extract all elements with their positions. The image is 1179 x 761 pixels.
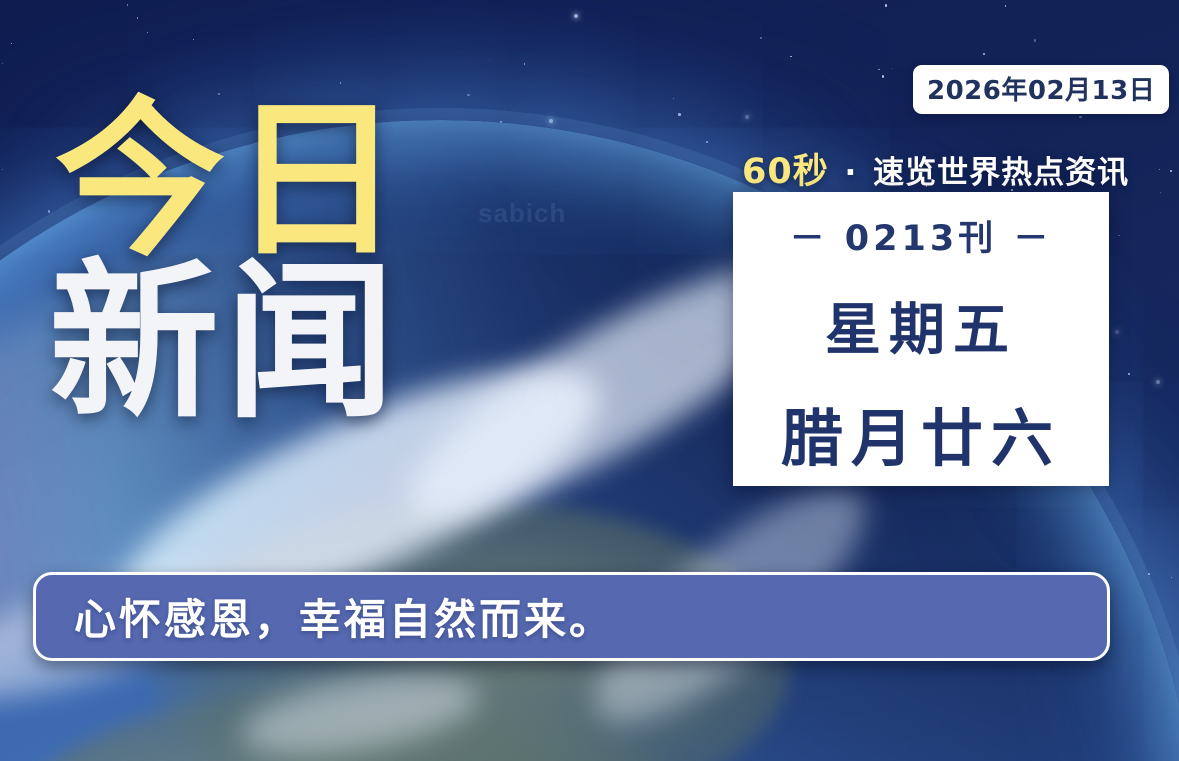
- quote-banner: 心怀感恩，幸福自然而来。: [33, 572, 1110, 661]
- tagline-separator: ·: [845, 155, 858, 191]
- tagline-rest: 速览世界热点资讯: [873, 155, 1129, 191]
- page-title-line-2: 新闻: [49, 265, 407, 421]
- tagline-highlight: 60秒: [742, 152, 829, 192]
- news-poster: sabich 今日 新闻 2026年02月13日 60秒 · 速览世界热点资讯 …: [0, 0, 1179, 761]
- page-title: 今日 新闻: [55, 103, 407, 422]
- issue-info-card: － 0213刊 － 星期五 腊月廿六: [733, 192, 1109, 486]
- page-title-line-1: 今日: [55, 103, 407, 259]
- watermark-text: sabich: [478, 198, 566, 229]
- lunar-date-label: 腊月廿六: [781, 388, 1061, 478]
- date-badge: 2026年02月13日: [913, 65, 1169, 114]
- quote-text: 心怀感恩，幸福自然而来。: [74, 586, 614, 647]
- issue-number: － 0213刊 －: [790, 210, 1053, 261]
- weekday-label: 星期五: [825, 285, 1017, 366]
- tagline: 60秒 · 速览世界热点资讯: [742, 143, 1129, 194]
